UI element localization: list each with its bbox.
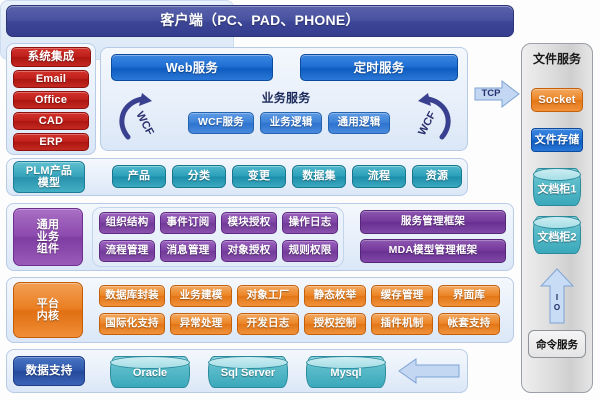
timer-service-box[interactable]: 定时服务 bbox=[300, 54, 458, 81]
plm-title: PLM产品 模型 bbox=[13, 161, 85, 193]
architecture-diagram: 客户端（PC、PAD、PHONE） 系统集成 Email Office CAD … bbox=[0, 0, 600, 400]
comp-title-line3: 组件 bbox=[37, 243, 59, 255]
database-sql-server[interactable]: Sql Server bbox=[208, 356, 288, 388]
database-mysql-label: Mysql bbox=[307, 367, 385, 379]
kernel-item-account-set-support[interactable]: 帐套支持 bbox=[438, 313, 500, 335]
database-oracle-label: Oracle bbox=[111, 367, 189, 379]
plm-item-change[interactable]: 变更 bbox=[232, 165, 286, 188]
business-service-title: 业务服务 bbox=[170, 91, 402, 107]
cylinder-top-icon bbox=[533, 216, 581, 229]
client-bar: 客户端（PC、PAD、PHONE） bbox=[6, 5, 514, 37]
web-service-box[interactable]: Web服务 bbox=[111, 54, 273, 81]
comp-item-org-structure[interactable]: 组织结构 bbox=[99, 212, 155, 234]
comp-item-process-mgmt[interactable]: 流程管理 bbox=[99, 240, 155, 262]
wcf-arrow-right-icon: WCF bbox=[404, 93, 458, 145]
kernel-item-static-enum[interactable]: 静态枚举 bbox=[304, 285, 366, 307]
kernel-item-ui-library[interactable]: 界面库 bbox=[438, 285, 500, 307]
comp-item-message-mgmt[interactable]: 消息管理 bbox=[160, 240, 216, 262]
kernel-item-business-modeling[interactable]: 业务建模 bbox=[170, 285, 232, 307]
io-label-line2: O bbox=[554, 303, 560, 313]
kernel-item-auth-control[interactable]: 授权控制 bbox=[304, 313, 366, 335]
comp-item-operation-log[interactable]: 操作日志 bbox=[282, 212, 338, 234]
document-cabinet-2-label: 文档柜2 bbox=[534, 228, 580, 244]
database-sql-server-label: Sql Server bbox=[209, 367, 287, 379]
document-cabinet-1-label: 文档柜1 bbox=[534, 180, 580, 196]
plm-item-process[interactable]: 流程 bbox=[352, 165, 406, 188]
platform-kernel-title: 平台 内核 bbox=[13, 282, 83, 338]
plm-title-line2: 模型 bbox=[38, 177, 60, 189]
comp-item-event-subscribe[interactable]: 事件订阅 bbox=[160, 212, 216, 234]
plm-title-line1: PLM产品 bbox=[26, 165, 72, 177]
database-mysql[interactable]: Mysql bbox=[306, 356, 386, 388]
comp-item-module-auth[interactable]: 模块授权 bbox=[221, 212, 277, 234]
file-storage-box[interactable]: 文件存储 bbox=[531, 128, 583, 152]
kernel-item-exception-handling[interactable]: 异常处理 bbox=[170, 313, 232, 335]
framework-mda-model-mgmt[interactable]: MDA模型管理框架 bbox=[360, 239, 506, 263]
data-support-title: 数据支持 bbox=[13, 356, 85, 386]
kernel-item-plugin-mechanism[interactable]: 插件机制 bbox=[371, 313, 433, 335]
document-cabinet-2[interactable]: 文档柜2 bbox=[533, 216, 581, 254]
plm-item-product[interactable]: 产品 bbox=[112, 165, 166, 188]
plm-item-category[interactable]: 分类 bbox=[172, 165, 226, 188]
plm-item-dataset[interactable]: 数据集 bbox=[292, 165, 346, 188]
tcp-label: TCP bbox=[477, 86, 505, 100]
kernel-item-db-encapsulation[interactable]: 数据库封装 bbox=[99, 285, 165, 307]
socket-box[interactable]: Socket bbox=[531, 88, 583, 112]
database-oracle[interactable]: Oracle bbox=[110, 356, 190, 388]
wcf-service-box[interactable]: WCF服务 bbox=[188, 112, 254, 134]
kernel-item-i18n-support[interactable]: 国际化支持 bbox=[99, 313, 165, 335]
system-integration-title: 系统集成 bbox=[11, 47, 91, 67]
document-cabinet-1[interactable]: 文档柜1 bbox=[533, 168, 581, 206]
wcf-arrow-left-icon: WCF bbox=[112, 93, 166, 145]
common-components-title: 通用 业务 组件 bbox=[13, 208, 83, 266]
kernel-item-object-factory[interactable]: 对象工厂 bbox=[237, 285, 299, 307]
sysint-item-email[interactable]: Email bbox=[13, 70, 89, 88]
sysint-item-office[interactable]: Office bbox=[13, 91, 89, 109]
data-flow-arrow-left-icon bbox=[398, 358, 460, 384]
file-service-title: 文件服务 bbox=[521, 50, 593, 66]
sysint-item-cad[interactable]: CAD bbox=[13, 112, 89, 130]
comp-item-object-auth[interactable]: 对象授权 bbox=[221, 240, 277, 262]
wcf-left-label: WCF bbox=[133, 110, 155, 138]
kernel-title-line1: 平台 bbox=[37, 298, 59, 310]
comp-title-line2: 业务 bbox=[37, 231, 59, 243]
comp-item-rule-permission[interactable]: 规则权限 bbox=[282, 240, 338, 262]
kernel-item-dev-log[interactable]: 开发日志 bbox=[237, 313, 299, 335]
kernel-item-cache-mgmt[interactable]: 缓存管理 bbox=[371, 285, 433, 307]
cylinder-top-icon bbox=[533, 168, 581, 181]
plm-item-resource[interactable]: 资源 bbox=[412, 165, 462, 188]
business-logic-box[interactable]: 业务逻辑 bbox=[260, 112, 322, 134]
io-label-line1: I bbox=[556, 293, 558, 303]
wcf-right-label: WCF bbox=[416, 109, 438, 137]
common-logic-box[interactable]: 通用逻辑 bbox=[328, 112, 390, 134]
io-label: I O bbox=[540, 288, 574, 318]
sysint-item-erp[interactable]: ERP bbox=[13, 133, 89, 151]
comp-title-line1: 通用 bbox=[37, 219, 59, 231]
kernel-title-line2: 内核 bbox=[37, 310, 59, 322]
command-service-box[interactable]: 命令服务 bbox=[528, 330, 586, 358]
framework-service-mgmt[interactable]: 服务管理框架 bbox=[360, 210, 506, 234]
